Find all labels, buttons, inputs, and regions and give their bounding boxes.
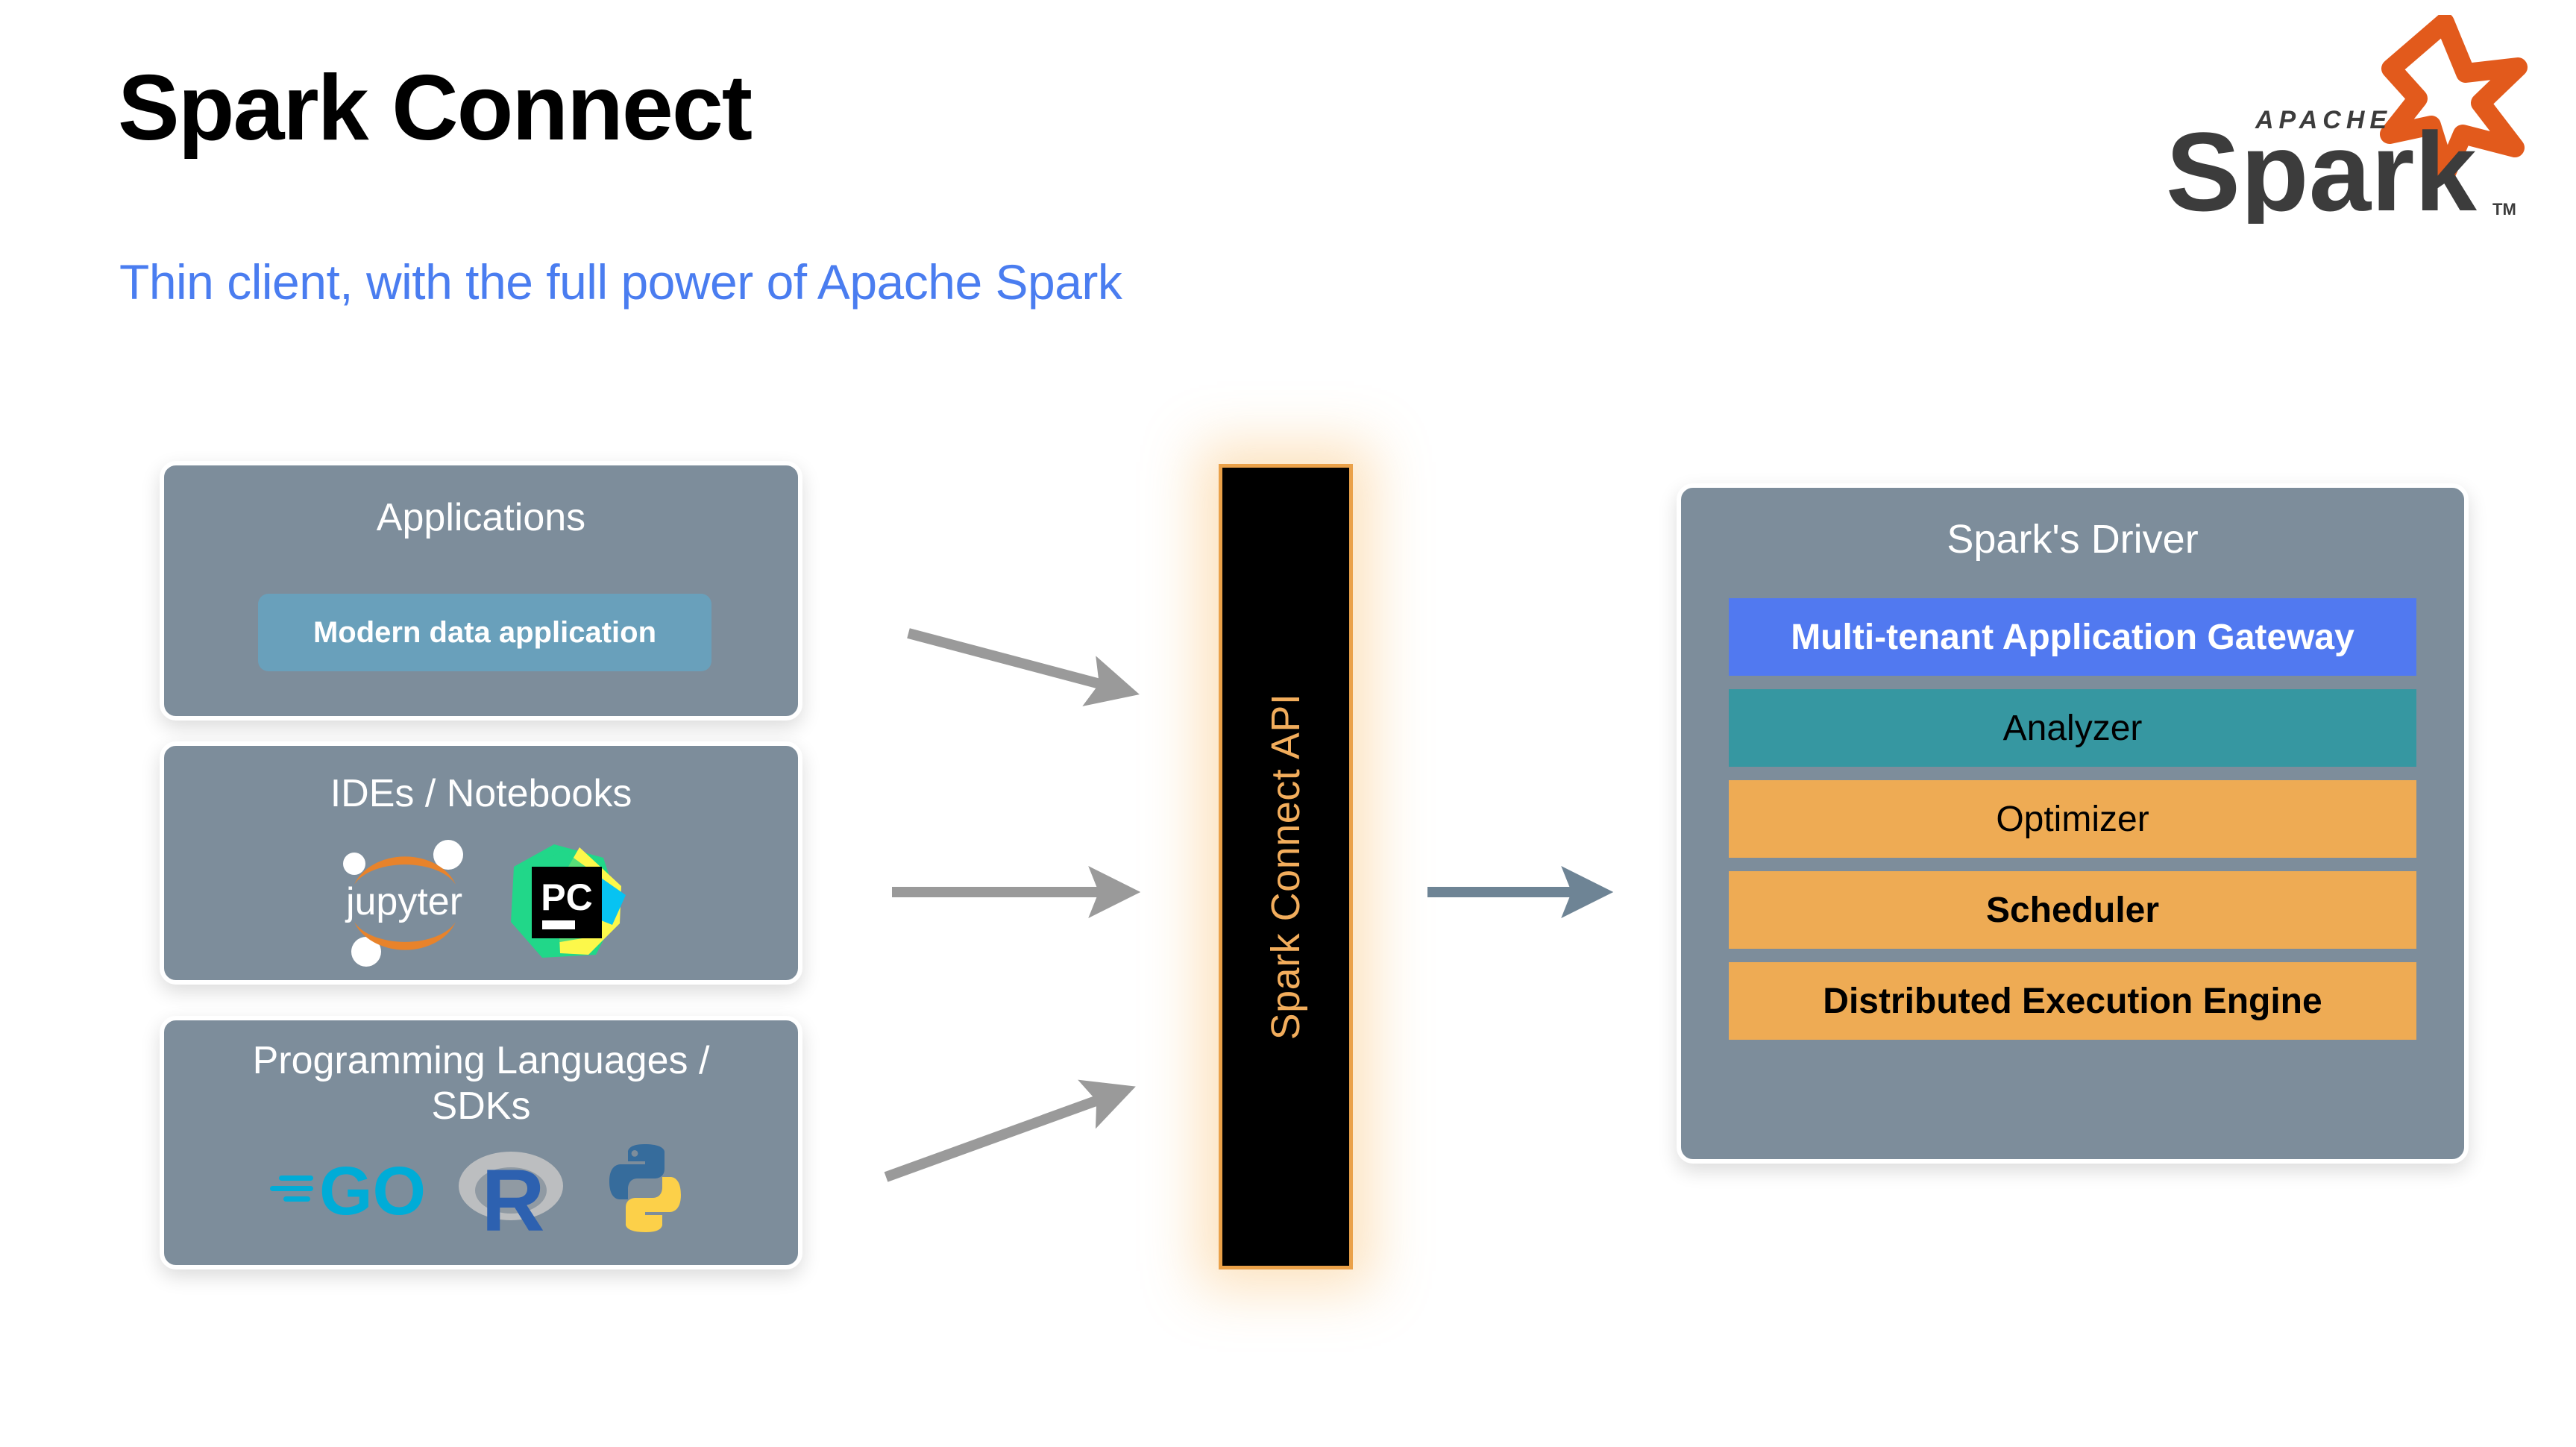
python-snake-top <box>609 1144 665 1199</box>
pycharm-wordmark: PC <box>541 876 592 918</box>
go-logo-svg: GO <box>268 1147 425 1229</box>
jupyter-dot-right <box>433 840 463 870</box>
r-wordmark: R <box>481 1152 544 1237</box>
jupyter-dot-left <box>343 853 365 875</box>
driver-row-scheduler[interactable]: Scheduler <box>1729 871 2416 949</box>
pycharm-underscore-icon <box>542 920 575 929</box>
page-subtitle: Thin client, with the full power of Apac… <box>119 254 1122 310</box>
go-logo: GO <box>268 1147 425 1233</box>
r-logo: R <box>455 1140 567 1240</box>
r-logo-svg: R <box>455 1140 567 1237</box>
driver-row-optimizer[interactable]: Optimizer <box>1729 780 2416 858</box>
panel-spark-driver-title: Spark's Driver <box>1681 516 2464 564</box>
panel-programming-languages[interactable]: Programming Languages / SDKs GO <box>160 1016 802 1269</box>
panel-applications-title: Applications <box>164 495 798 541</box>
language-logo-row: GO R <box>164 1140 798 1240</box>
panel-spark-driver[interactable]: Spark's Driver Multi-tenant Application … <box>1677 483 2469 1164</box>
jupyter-wordmark: jupyter <box>345 880 462 923</box>
trademark-mark: TM <box>2492 200 2516 219</box>
jupyter-logo-svg: jupyter <box>335 834 474 968</box>
panel-ides-notebooks[interactable]: IDEs / Notebooks jupyter <box>160 741 802 985</box>
panel-ides-notebooks-title: IDEs / Notebooks <box>164 771 798 817</box>
modern-data-application-chip[interactable]: Modern data application <box>258 594 711 671</box>
go-wordmark: GO <box>319 1153 425 1229</box>
spark-wordmark: Spark <box>2166 109 2477 224</box>
driver-row-distributed-execution-engine[interactable]: Distributed Execution Engine <box>1729 962 2416 1040</box>
go-speed-lines-icon <box>270 1176 313 1202</box>
page-title: Spark Connect <box>118 60 751 157</box>
apache-spark-logo-svg: APACHE Spark TM <box>2143 15 2531 224</box>
pycharm-logo: PC <box>508 841 627 964</box>
spark-connect-api-bar[interactable]: Spark Connect API <box>1219 464 1353 1269</box>
python-logo <box>597 1140 694 1240</box>
ide-logo-row: jupyter PC <box>164 834 798 972</box>
python-logo-svg <box>597 1140 694 1237</box>
driver-row-analyzer[interactable]: Analyzer <box>1729 689 2416 767</box>
python-snake-bottom <box>626 1177 681 1232</box>
panel-applications[interactable]: Applications Modern data application <box>160 461 802 721</box>
slide-canvas: Spark Connect Thin client, with the full… <box>0 0 2576 1447</box>
apache-spark-logo: APACHE Spark TM <box>2143 15 2531 224</box>
driver-row-multi-tenant-application-gateway[interactable]: Multi-tenant Application Gateway <box>1729 598 2416 676</box>
arrow-languages-to-api <box>886 1096 1108 1177</box>
pycharm-logo-svg: PC <box>508 841 627 961</box>
panel-languages-title-line2: SDKs <box>432 1085 531 1128</box>
panel-languages-title-line1: Programming Languages / <box>253 1039 710 1082</box>
driver-component-stack: Multi-tenant Application Gateway Analyze… <box>1729 598 2416 1040</box>
jupyter-logo: jupyter <box>335 834 474 972</box>
panel-programming-languages-title: Programming Languages / SDKs <box>164 1038 798 1130</box>
arrow-applications-to-api <box>908 633 1111 687</box>
spark-connect-api-label: Spark Connect API <box>1263 694 1309 1040</box>
